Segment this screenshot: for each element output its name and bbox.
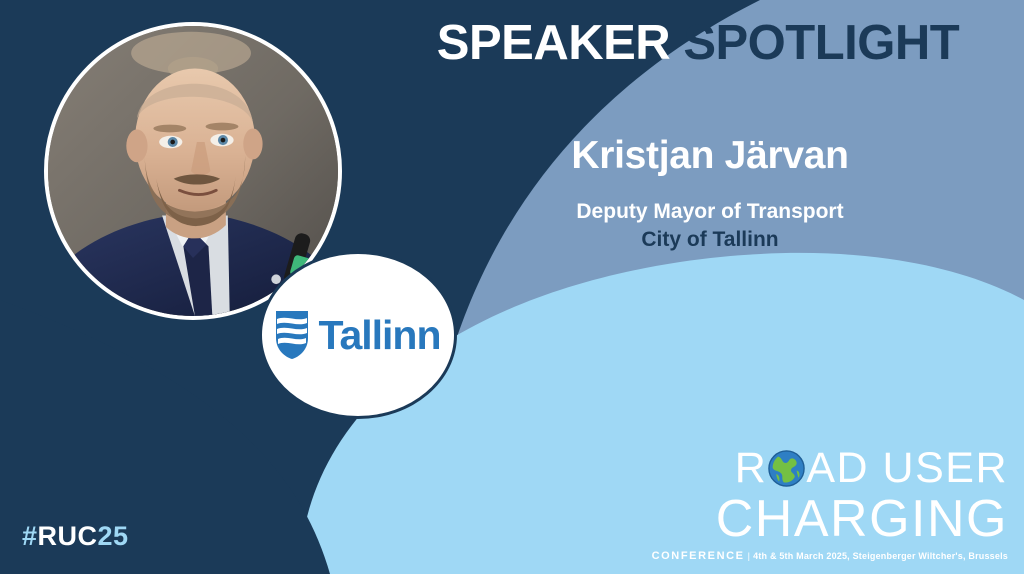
hashtag-symbol: # [22,521,38,551]
event-logo-conference-label: CONFERENCE [652,550,745,562]
event-logo: R AD USER CHARGING CONFERENCE | 4th & 5t… [652,447,1008,562]
speaker-role: Deputy Mayor of Transport [440,198,980,226]
headline-word-spotlight: SPOTLIGHT [683,16,959,70]
event-logo-line2: CHARGING [652,492,1008,547]
speaker-name: Kristjan Järvan [440,135,980,178]
tallinn-logo-text: Tallinn [318,315,440,356]
event-logo-subline: CONFERENCE | 4th & 5th March 2025, Steig… [652,550,1008,562]
speaker-organization: City of Tallinn [440,226,980,254]
event-logo-r: R [735,447,768,490]
organization-logo-bubble: Tallinn [259,251,457,419]
speaker-details: Kristjan Järvan Deputy Mayor of Transpor… [440,135,980,253]
tallinn-shield-icon [275,310,309,360]
event-logo-ad-user: AD USER [806,447,1008,490]
headline-word-speaker: SPEAKER [437,16,670,70]
event-logo-divider: | [748,551,751,561]
event-logo-details: 4th & 5th March 2025, Steigenberger Wilt… [753,551,1008,561]
hashtag-year: 25 [98,521,129,551]
event-hashtag: #RUC25 [22,521,129,552]
globe-icon [768,450,805,487]
event-logo-line1: R AD USER [652,447,1008,490]
speaker-spotlight-poster: SPEAKER SPOTLIGHT [0,0,1024,574]
hashtag-main: RUC [38,521,98,551]
